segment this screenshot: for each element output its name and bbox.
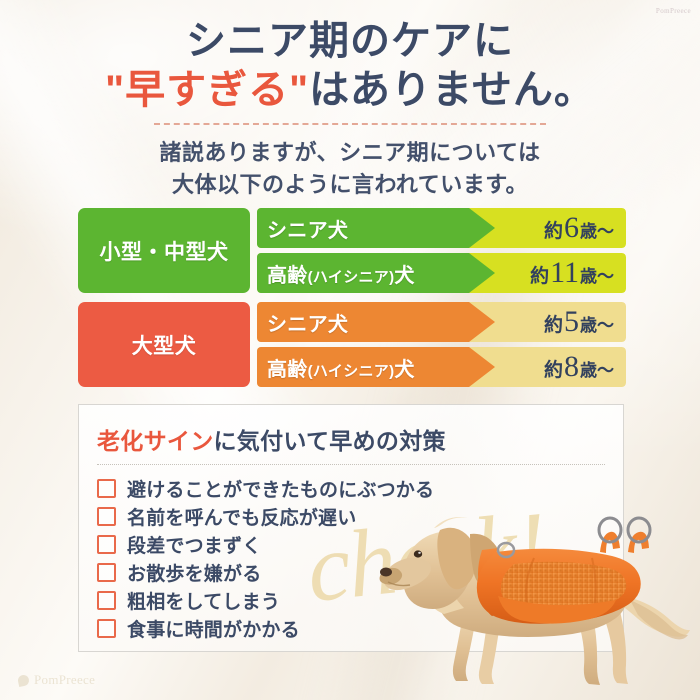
checklist-title-accent: 老化サイン [97,428,214,454]
age-row-senior-small: シニア犬 約6歳～ [257,208,626,248]
checkbox-icon[interactable] [97,591,116,610]
age-number: 8 [563,350,580,383]
age-rows-large: シニア犬 約5歳～ 高齢(ハイシニア)犬 約8歳～ [257,302,626,387]
age-row-senior-large: シニア犬 約5歳～ [257,302,626,342]
age-number: 11 [549,256,580,289]
headline-block: シニア期のケアに "早すぎる"はありません。 諸説ありますが、シニア期については… [0,18,700,200]
age-prefix: 約 [544,315,563,336]
age-row-stage-label: 高齢(ハイシニア)犬 [257,353,415,382]
age-row-stage-label: 高齢(ハイシニア)犬 [257,259,415,288]
age-rows-small-medium: シニア犬 約6歳～ 高齢(ハイシニア)犬 約11歳～ [257,208,626,293]
stage-tail-text: 犬 [394,359,414,381]
age-group-large: 大型犬 シニア犬 約5歳～ 高齢(ハイシニア)犬 約8歳～ [78,302,626,387]
list-item[interactable]: 避けることができたものにぶつかる [97,474,623,502]
age-prefix: 約 [544,360,563,381]
age-prefix: 約 [530,266,549,287]
checklist-title: 老化サインに気付いて早めの対策 [97,422,623,456]
checklist-title-rule [97,464,605,465]
list-item-label: 食事に時間がかかる [127,615,300,642]
subheading-line2: 大体以下のように言われています。 [0,169,700,200]
headline-quote-close: " [289,68,309,112]
list-item-label: お散歩を嫌がる [127,559,261,586]
paw-mark-icon [17,673,30,686]
stage-main-text: 高齢 [267,265,308,287]
headline-line1: シニア期のケアに [0,18,700,65]
stage-small-text: (ハイシニア) [308,363,395,380]
stage-small-text: (ハイシニア) [308,269,395,286]
stage-main-text: シニア犬 [267,220,348,242]
age-number: 5 [563,305,580,338]
age-suffix: 歳～ [580,316,614,335]
list-item-label: 段差でつまずく [127,531,261,558]
age-prefix: 約 [544,221,563,242]
subheading-line1: 諸説ありますが、シニア期については [0,137,700,168]
checkbox-icon[interactable] [97,563,116,582]
stage-main-text: 高齢 [267,359,308,381]
age-row-stage-label: シニア犬 [257,308,348,337]
age-row-value: 約5歳～ [544,305,614,339]
age-row-high-senior-small: 高齢(ハイシニア)犬 約11歳～ [257,253,626,293]
age-row-value: 約8歳～ [544,350,614,384]
top-right-watermark: PomPreece [656,7,691,15]
headline-quote-open: " [105,68,125,112]
list-item[interactable]: 段差でつまずく [97,530,623,558]
checkbox-icon[interactable] [97,535,116,554]
age-number: 6 [563,211,580,244]
age-suffix: 歳～ [580,222,614,241]
age-row-value: 約11歳～ [530,256,614,290]
checkbox-icon[interactable] [97,507,116,526]
brand-logo: PomPreece [18,672,95,688]
checkbox-icon[interactable] [97,479,116,498]
age-group-label-small-medium: 小型・中型犬 [78,208,250,293]
list-item[interactable]: 食事に時間がかかる [97,614,623,642]
checklist-title-rest: に気付いて早めの対策 [214,428,446,454]
checklist-panel: check! 老化サインに気付いて早めの対策 避けることができたものにぶつかる … [78,404,624,652]
headline-line2: "早すぎる"はありません。 [0,67,700,114]
list-item-label: 避けることができたものにぶつかる [127,475,434,502]
list-item[interactable]: 粗相をしてしまう [97,586,623,614]
headline-dashed-divider [154,123,546,125]
list-item[interactable]: 名前を呼んでも反応が遅い [97,502,623,530]
stage-tail-text: 犬 [394,265,414,287]
headline-line2-rest: はありません。 [309,68,595,112]
poster-root: PomPreece シニア期のケアに "早すぎる"はありません。 諸説ありますが… [0,0,700,700]
checkbox-icon[interactable] [97,619,116,638]
age-table: 小型・中型犬 シニア犬 約6歳～ 高齢(ハイシニア)犬 約11歳～ 大型犬 [78,208,626,387]
age-row-value: 約6歳～ [544,211,614,245]
list-item-label: 名前を呼んでも反応が遅い [127,503,356,530]
age-suffix: 歳～ [580,361,614,380]
headline-accent-text: 早すぎる [125,68,289,112]
stage-main-text: シニア犬 [267,314,348,336]
age-group-small-medium: 小型・中型犬 シニア犬 約6歳～ 高齢(ハイシニア)犬 約11歳～ [78,208,626,293]
checklist-items: 避けることができたものにぶつかる 名前を呼んでも反応が遅い 段差でつまずく お散… [97,474,623,642]
age-row-high-senior-large: 高齢(ハイシニア)犬 約8歳～ [257,347,626,387]
list-item-label: 粗相をしてしまう [127,587,280,614]
age-suffix: 歳～ [580,267,614,286]
subheading-block: 諸説ありますが、シニア期については 大体以下のように言われています。 [0,137,700,199]
list-item[interactable]: お散歩を嫌がる [97,558,623,586]
age-group-label-large: 大型犬 [78,302,250,387]
brand-name: PomPreece [34,672,95,688]
age-row-stage-label: シニア犬 [257,214,348,243]
